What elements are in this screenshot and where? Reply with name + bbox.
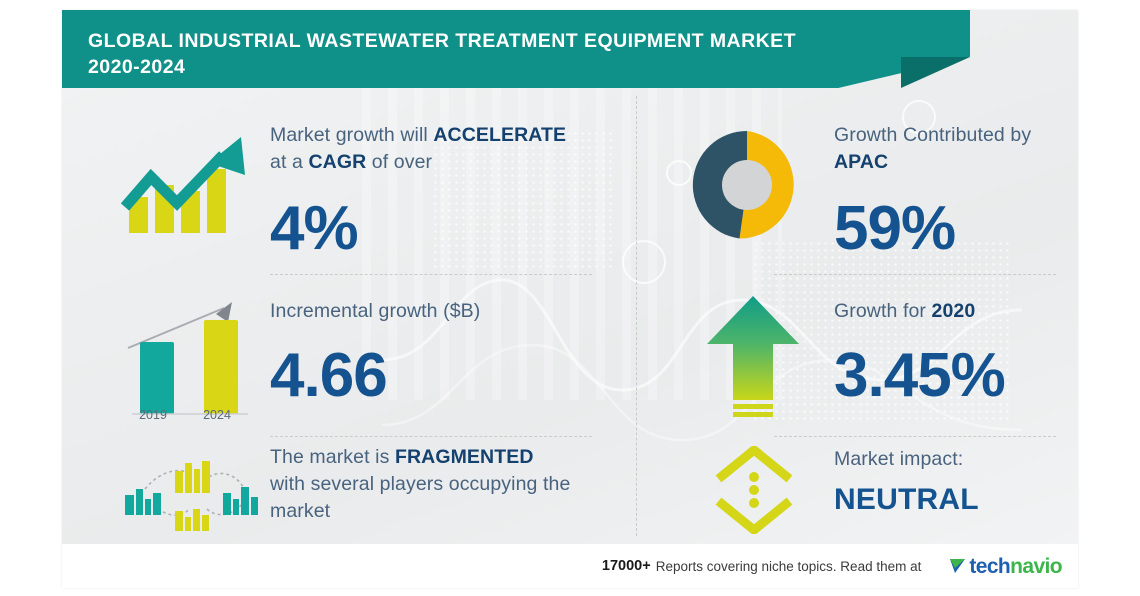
impact-value: NEUTRAL: [834, 485, 1074, 515]
cell-growth-2020: Growth for 2020 3.45%: [636, 274, 1078, 436]
fragmented-icon-wrap: [110, 450, 266, 536]
cell-apac: Growth Contributed by APAC 59%: [636, 96, 1078, 274]
growth2020-lede-bold: 2020: [932, 300, 976, 322]
incremental-value: 4.66: [270, 345, 610, 407]
infographic-card: Global Industrial Wastewater Treatment E…: [62, 10, 1078, 588]
growth2020-icon-wrap: [698, 288, 808, 428]
impact-icon-wrap: [706, 444, 802, 536]
growth2020-lede: Growth for 2020: [834, 298, 1074, 325]
cagr-lede-prefix: Market growth will: [270, 124, 433, 146]
two-bar-growth-icon: [112, 290, 264, 426]
infographic-poster: Global Industrial Wastewater Treatment E…: [0, 0, 1140, 596]
growth-bar-chart-arrow-icon: [119, 129, 259, 233]
donut-chart-icon: [689, 127, 805, 243]
footer-bar: 17000+ Reports covering niche topics. Re…: [62, 544, 1078, 588]
cagr-body: Market growth will ACCELERATE at a CAGR …: [270, 122, 610, 260]
impact-lede: Market impact:: [834, 446, 1074, 473]
fragmented-lede-line2: with several players occupying the: [270, 473, 570, 495]
cell-incremental: 2019 2024 Incremental growth ($B) 4.66: [62, 274, 636, 436]
growth2020-body: Growth for 2020 3.45%: [834, 298, 1074, 407]
cagr-lede2-suffix: of over: [366, 151, 432, 173]
incremental-body: Incremental growth ($B) 4.66: [270, 298, 610, 407]
fragmented-lede-bold: FRAGMENTED: [395, 446, 534, 468]
logo-text-tech: tech: [969, 556, 1010, 577]
logo-text-navio: navio: [1010, 556, 1062, 577]
content-area: Market growth will ACCELERATE at a CAGR …: [62, 88, 1078, 544]
fragmented-lede-prefix: The market is: [270, 446, 395, 468]
cagr-lede: Market growth will ACCELERATE at a CAGR …: [270, 122, 610, 176]
growth2020-lede-prefix: Growth for: [834, 300, 932, 322]
bar-label-2019: 2019: [130, 408, 176, 422]
apac-lede-text: Growth Contributed by: [834, 124, 1031, 146]
cagr-lede2-prefix: at a: [270, 151, 308, 173]
cell-market-impact: Market impact: NEUTRAL: [636, 436, 1078, 540]
cagr-value: 4%: [270, 198, 610, 260]
apac-value: 59%: [834, 198, 1074, 260]
footer-text: Reports covering niche topics. Read them…: [656, 559, 922, 574]
incremental-icon-wrap: [108, 288, 268, 428]
apac-body: Growth Contributed by APAC 59%: [834, 122, 1074, 260]
cell-cagr: Market growth will ACCELERATE at a CAGR …: [62, 96, 636, 274]
technavio-triangle-icon: [949, 556, 967, 576]
cagr-lede2-bold: CAGR: [308, 151, 366, 173]
cagr-icon-wrap: [114, 126, 264, 236]
fragmented-lede: The market is FRAGMENTED with several pl…: [270, 444, 620, 525]
header-fold-corner-icon: [901, 57, 970, 88]
neutral-updown-chevron-icon: [712, 446, 796, 534]
impact-body: Market impact: NEUTRAL: [834, 446, 1074, 515]
apac-lede: Growth Contributed by APAC: [834, 122, 1074, 176]
bar-label-2024: 2024: [194, 408, 240, 422]
fragmented-body: The market is FRAGMENTED with several pl…: [270, 444, 620, 525]
apac-icon-wrap: [682, 120, 812, 250]
technavio-logo[interactable]: tech navio: [949, 556, 1062, 577]
up-arrow-icon: [703, 292, 803, 424]
fragmented-lede-line3: market: [270, 500, 330, 522]
connected-buildings-icon: [113, 451, 263, 535]
page-title: Global Industrial Wastewater Treatment E…: [88, 28, 796, 80]
cagr-lede-bold: ACCELERATE: [433, 124, 566, 146]
incremental-lede: Incremental growth ($B): [270, 298, 610, 325]
growth2020-value: 3.45%: [834, 345, 1074, 407]
cell-fragmented: The market is FRAGMENTED with several pl…: [62, 436, 636, 540]
apac-lede-bold: APAC: [834, 151, 888, 173]
footer-report-count: 17000+: [602, 558, 651, 574]
